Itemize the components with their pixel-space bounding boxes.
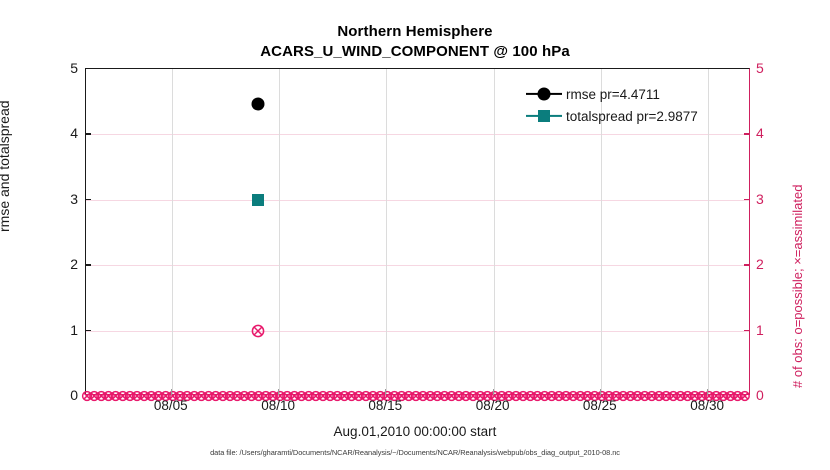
page-title: Northern Hemisphere ACARS_U_WIND_COMPONE… [0, 22, 830, 62]
legend: rmse pr=4.4711 totalspread pr=2.9877 [522, 79, 736, 131]
legend-item-rmse: rmse pr=4.4711 [526, 83, 730, 105]
legend-marker-circle-icon [526, 85, 562, 103]
legend-label-totalspread: totalspread pr=2.9877 [566, 109, 698, 124]
rmse-data-point [252, 97, 265, 110]
gridline-v-0815 [386, 69, 387, 394]
tick-bottom-0820 [493, 389, 494, 395]
xtick-label-0820: 08/20 [458, 398, 528, 413]
tick-bottom-0810 [278, 389, 279, 395]
totalspread-data-point [252, 194, 264, 206]
chart-figure: Northern Hemisphere ACARS_U_WIND_COMPONE… [0, 0, 830, 470]
tick-right-4 [744, 133, 750, 134]
xtick-label-0805: 08/05 [136, 398, 206, 413]
x-axis-title: Aug.01,2010 00:00:00 start [0, 424, 830, 439]
tick-bottom-0815 [385, 389, 386, 395]
ytick-label-left-1: 1 [38, 322, 78, 338]
gridline-h-2 [86, 265, 749, 266]
y-axis-title-right: # of obs: o=possible; ×=assimilated [790, 185, 805, 388]
xtick-label-0815: 08/15 [350, 398, 420, 413]
gridline-v-0805 [172, 69, 173, 394]
ytick-label-right-0: 0 [756, 387, 796, 403]
tick-right-3 [744, 199, 750, 200]
tick-left-4 [85, 133, 91, 134]
title-line-2: ACARS_U_WIND_COMPONENT @ 100 hPa [0, 42, 830, 62]
ytick-label-left-4: 4 [38, 125, 78, 141]
legend-marker-square-icon [526, 107, 562, 125]
ytick-label-right-4: 4 [756, 125, 796, 141]
xtick-label-0830: 08/30 [672, 398, 742, 413]
gridline-h-1 [86, 331, 749, 332]
tick-right-1 [744, 330, 750, 331]
plot-area: rmse pr=4.4711 totalspread pr=2.9877 [85, 68, 750, 395]
xtick-label-0825: 08/25 [565, 398, 635, 413]
tick-left-5 [85, 68, 92, 69]
y-axis-title-left: rmse and totalspread [0, 100, 12, 232]
gridline-v-0810 [279, 69, 280, 394]
tick-left-2 [85, 264, 91, 265]
legend-item-totalspread: totalspread pr=2.9877 [526, 105, 730, 127]
tick-bottom-0830 [707, 389, 708, 395]
data-file-footer: data file: /Users/gharamti/Documents/NCA… [0, 448, 830, 457]
title-line-1: Northern Hemisphere [0, 22, 830, 42]
tick-left-3 [85, 199, 91, 200]
ytick-label-left-0: 0 [38, 387, 78, 403]
ytick-label-left-3: 3 [38, 191, 78, 207]
gridline-h-3 [86, 200, 749, 201]
tick-bottom-0825 [600, 389, 601, 395]
ytick-label-left-2: 2 [38, 256, 78, 272]
obs-count-marker [252, 324, 265, 337]
gridline-v-0820 [494, 69, 495, 394]
gridline-h-4 [86, 134, 749, 135]
tick-right-2 [744, 264, 750, 265]
ytick-label-left-5: 5 [38, 60, 78, 76]
ytick-label-right-5: 5 [756, 60, 796, 76]
legend-label-rmse: rmse pr=4.4711 [566, 87, 660, 102]
xtick-label-0810: 08/10 [243, 398, 313, 413]
tick-bottom-0805 [171, 389, 172, 395]
tick-left-1 [85, 330, 91, 331]
